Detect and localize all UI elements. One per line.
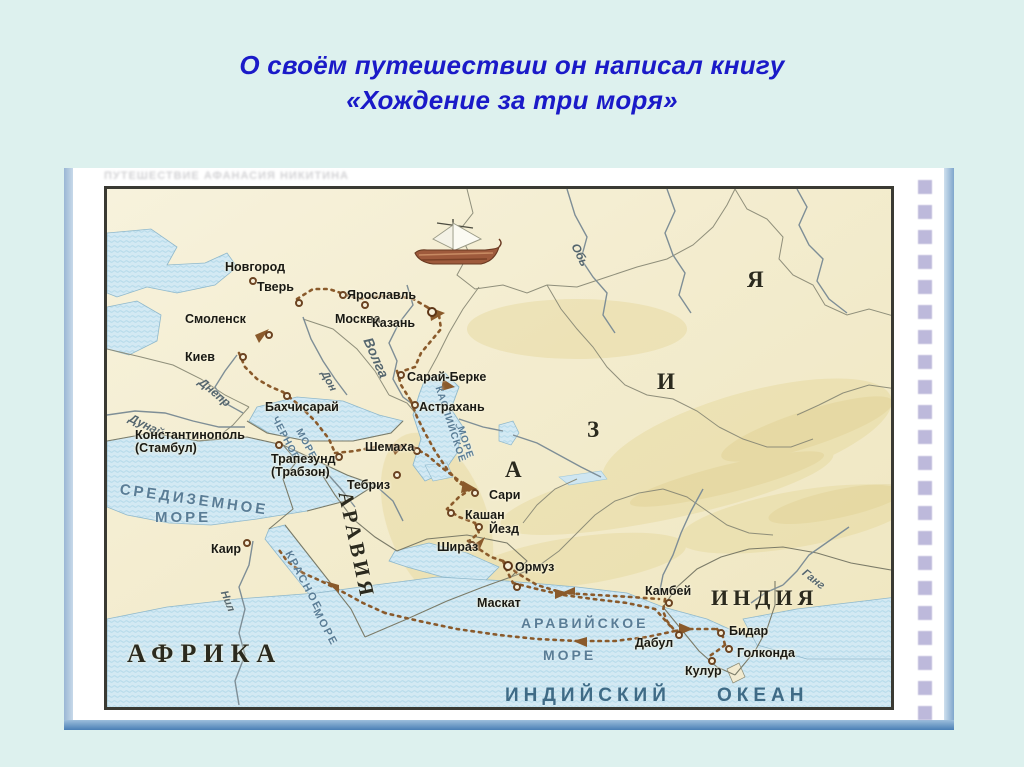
sea-label: МОРЕ — [543, 647, 596, 663]
region-label: З — [587, 417, 599, 443]
city-marker[interactable] — [717, 629, 725, 637]
legend-chip — [918, 380, 932, 394]
legend-chip — [918, 205, 932, 219]
legend-chip — [918, 556, 932, 570]
ocean-label: ИНДИЙСКИЙ — [505, 685, 671, 707]
card-bottom-edge-bar — [64, 720, 954, 730]
legend-chip — [918, 456, 932, 470]
city-marker[interactable] — [361, 301, 369, 309]
city-label: Камбей — [645, 585, 691, 598]
legend-chip — [918, 681, 932, 695]
legend-chip — [918, 430, 932, 444]
sea-label: АРАВИЙСКОЕ — [521, 615, 648, 631]
city-label: Кулур — [685, 665, 722, 678]
sailing-ship-icon — [407, 217, 503, 273]
city-marker[interactable] — [239, 353, 247, 361]
city-marker[interactable] — [339, 291, 347, 299]
city-marker[interactable] — [397, 371, 405, 379]
city-label: Тебриз — [347, 479, 390, 492]
city-marker[interactable] — [471, 489, 479, 497]
city-label: Маскат — [477, 597, 521, 610]
legend-chip — [918, 606, 932, 620]
region-label: ИНДИЯ — [711, 585, 818, 611]
city-marker[interactable] — [411, 401, 419, 409]
region-label: АФРИКА — [127, 639, 282, 669]
card-left-edge-bar — [64, 168, 73, 730]
legend-chip — [918, 531, 932, 545]
city-label: Константинополь(Стамбул) — [135, 429, 245, 454]
city-marker[interactable] — [265, 331, 273, 339]
card-right-edge-bar — [944, 168, 954, 730]
legend-chip — [918, 355, 932, 369]
city-label: Смоленск — [185, 313, 246, 326]
city-marker[interactable] — [243, 539, 251, 547]
legend-chip — [918, 255, 932, 269]
cropped-map-header-text: ПУТЕШЕСТВИЕ АФАНАСИЯ НИКИТИНА — [104, 170, 894, 186]
city-label: Голконда — [737, 647, 795, 660]
city-label: Дабул — [635, 637, 673, 650]
city-marker[interactable] — [427, 307, 437, 317]
map-legend-strip — [918, 180, 932, 720]
city-label: Казань — [372, 317, 415, 330]
city-marker[interactable] — [447, 509, 455, 517]
legend-chip — [918, 706, 932, 720]
city-label: Трапезунд(Трабзон) — [271, 453, 336, 478]
city-marker[interactable] — [513, 583, 521, 591]
legend-chip — [918, 180, 932, 194]
city-marker[interactable] — [335, 453, 343, 461]
legend-chip — [918, 506, 932, 520]
city-marker[interactable] — [249, 277, 257, 285]
ocean-label: ОКЕАН — [717, 685, 809, 707]
sea-label: МОРЕ — [155, 509, 211, 526]
city-label: Кашан — [465, 509, 505, 522]
city-label: Ормуз — [515, 561, 554, 574]
city-marker[interactable] — [295, 299, 303, 307]
legend-chip — [918, 481, 932, 495]
map-canvas: АФРИКААРАВИЯИНДИЯАЗИЯ СРЕДИЗЕМНОЕМОРЕЧЕР… — [107, 189, 891, 707]
legend-chip — [918, 280, 932, 294]
map-image-card: ПУТЕШЕСТВИЕ АФАНАСИЯ НИКИТИНА — [64, 168, 954, 730]
legend-chip — [918, 631, 932, 645]
city-marker[interactable] — [275, 441, 283, 449]
city-label: Киев — [185, 351, 215, 364]
page-title: О своём путешествии он написал книгу «Хо… — [0, 48, 1024, 118]
region-label: Я — [747, 267, 764, 293]
legend-chip — [918, 305, 932, 319]
city-label: Новгород — [225, 261, 285, 274]
legend-chip — [918, 405, 932, 419]
city-marker[interactable] — [283, 392, 291, 400]
region-label: И — [657, 369, 675, 395]
city-marker[interactable] — [475, 523, 483, 531]
city-label: Тверь — [257, 281, 294, 294]
map-frame: АФРИКААРАВИЯИНДИЯАЗИЯ СРЕДИЗЕМНОЕМОРЕЧЕР… — [104, 186, 894, 710]
city-label: Бидар — [729, 625, 768, 638]
legend-chip — [918, 230, 932, 244]
region-label: А — [505, 457, 522, 483]
city-label: Бахчисарай — [265, 401, 339, 414]
city-label: Шираз — [437, 541, 478, 554]
city-label: Астрахань — [419, 401, 485, 414]
city-label: Сарай-Берке — [407, 371, 486, 384]
city-marker[interactable] — [503, 561, 513, 571]
city-marker[interactable] — [393, 471, 401, 479]
city-label: Каир — [211, 543, 241, 556]
legend-chip — [918, 581, 932, 595]
city-marker[interactable] — [675, 631, 683, 639]
legend-chip — [918, 656, 932, 670]
city-label: Ярославль — [347, 289, 416, 302]
legend-chip — [918, 330, 932, 344]
city-marker[interactable] — [725, 645, 733, 653]
city-label: Сари — [489, 489, 520, 502]
city-label: Йезд — [489, 523, 519, 536]
city-label: Шемаха — [365, 441, 414, 454]
city-marker[interactable] — [665, 599, 673, 607]
